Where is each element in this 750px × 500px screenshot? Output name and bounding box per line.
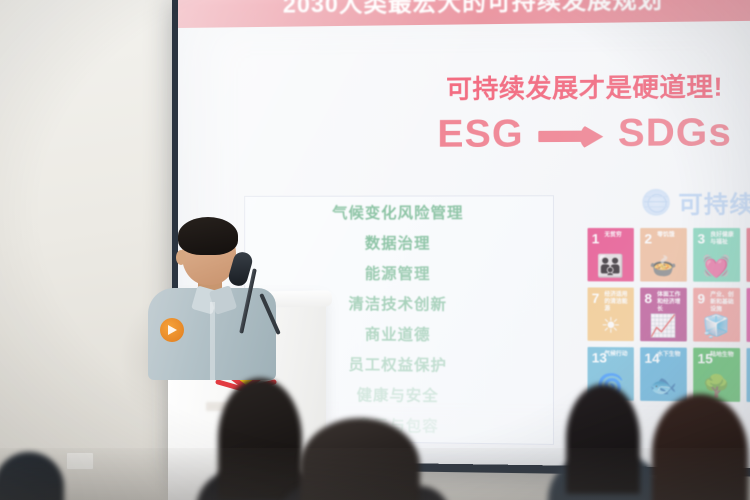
sdg-tile-glyph: ☀ [588,315,634,337]
sdg-tile-glyph: 📖 [747,256,750,278]
sdg-tile-caption: 陆地生物 [710,352,737,359]
sdg-tile-caption: 无贫穷 [604,232,630,239]
sdg-tile-caption: 体面工作和经济增长 [657,292,684,313]
sdg-tile-number: 2 [644,231,652,246]
speaker-shirt-placket [210,302,215,380]
sdg-tile-glyph: 🕊 [747,376,750,398]
speaker-badge [160,318,184,342]
sdg-tile-9: 9产业、创新和基础设施🧊 [693,288,740,342]
headline-from-label: ESG [437,113,523,157]
slide-headline: 可持续发展才是硬道理! ESG SDGs [407,66,750,157]
sdg-tile-8: 8体面工作和经济增长📈 [640,288,687,342]
list-item: 气候变化风险管理 [245,201,553,223]
sdg-tile-7: 7经济适用的清洁能源☀ [588,287,634,341]
sdg-tile-10: 10减少不平等⚖ [747,288,750,342]
sdg-tile-number: 3 [697,231,705,246]
floor-shadow [0,448,750,500]
sdg-tile-caption: 产业、创新和基础设施 [710,292,737,313]
sdg-tile-caption: 零饥饿 [657,232,684,239]
sdg-tile-4: 4优质教育📖 [747,228,750,282]
sdg-tile-3: 3良好健康与福祉💓 [693,228,740,282]
sdg-tile-glyph: ⚖ [747,316,750,338]
sdg-tile-glyph: 📈 [640,315,687,337]
speaker-ear [176,250,186,265]
sdg-tile-glyph: 👪 [588,256,634,278]
sdg-goal-grid: 1无贫穷👪2零饥饿🍲3良好健康与福祉💓4优质教育📖7经济适用的清洁能源☀8体面工… [588,228,750,402]
sdg-tile-caption: 气候行动 [604,351,630,358]
sdg-tile-caption: 经济适用的清洁能源 [604,292,630,313]
sdg-tile-number: 1 [592,231,600,246]
sdg-tile-16: 16和平与正义🕊 [747,348,750,402]
sdg-tile-glyph: 🧊 [693,316,740,338]
headline-chinese: 可持续发展才是硬道理! [407,66,750,106]
un-sdg-title: 可持续发 [642,184,750,219]
sdg-tile-2: 2零饥饿🍲 [640,228,687,282]
headline-esg-to-sdgs: ESG SDGs [407,111,750,157]
slide-banner-text: 2030人类最宏大的可持续发展规划 [283,0,663,20]
sdg-tile-number: 9 [697,291,705,307]
sdg-tile-number: 7 [592,291,600,306]
un-emblem-icon [642,189,670,216]
sdg-tile-glyph: 💓 [693,256,740,278]
sdg-tile-glyph: 🍲 [640,256,687,278]
headline-to-label: SDGs [618,111,732,156]
arrow-right-icon [538,127,603,141]
sdg-tile-14: 14水下生物🐟 [640,347,687,401]
sdg-tile-glyph: 🐟 [640,375,687,397]
photo-scene: 2030人类最宏大的可持续发展规划 可持续发展才是硬道理! ESG SDGs 气… [0,0,750,500]
list-item: 数据治理 [245,232,553,254]
sdg-tile-caption: 水下生物 [657,352,684,359]
speaker-hair [178,217,238,255]
un-sdg-label: 可持续发 [678,184,750,219]
sdg-tile-number: 8 [644,291,652,306]
slide-banner: 2030人类最宏大的可持续发展规划 [178,0,750,28]
sdg-tile-caption: 良好健康与福祉 [710,232,737,246]
list-item: 能源管理 [245,262,553,284]
sdg-tile-1: 1无贫穷👪 [588,228,634,281]
